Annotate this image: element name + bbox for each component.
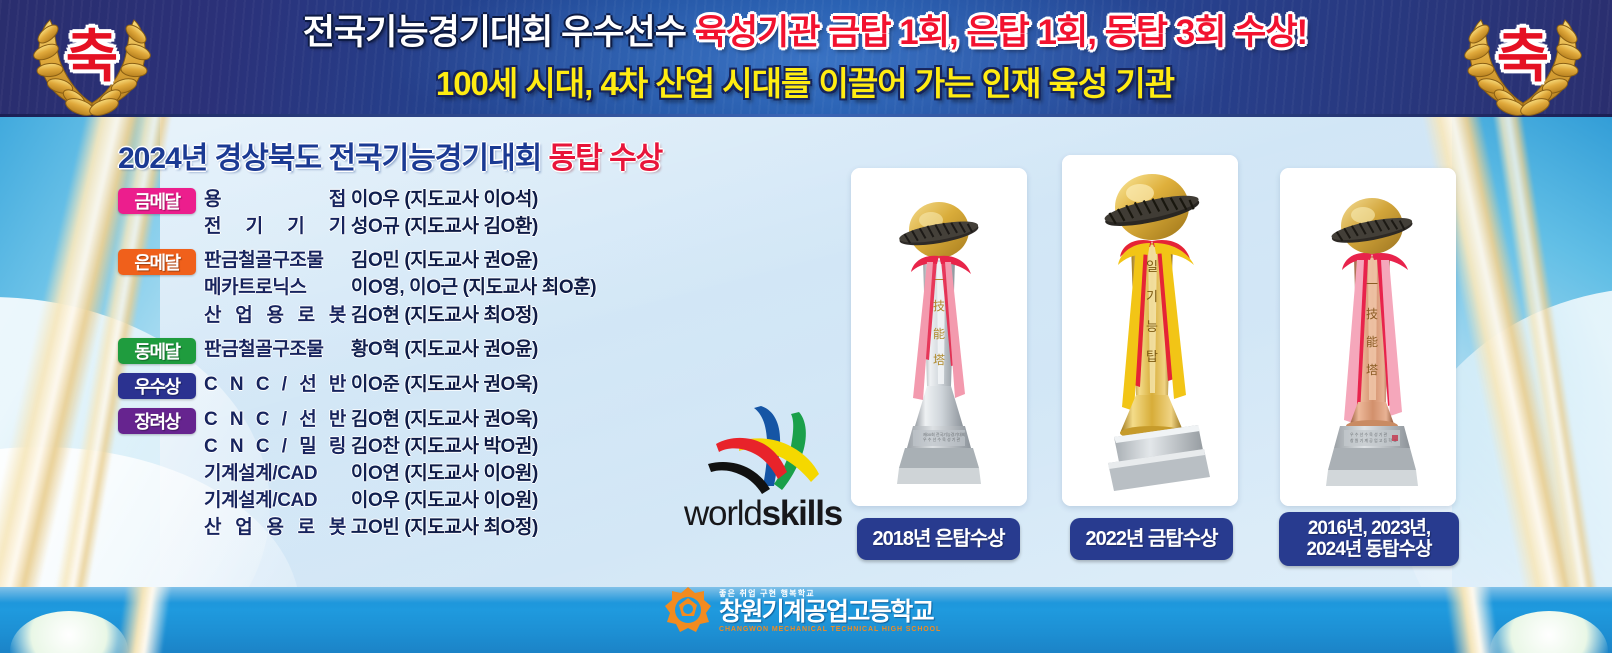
award-group: 은메달판금철골구조물 김O민 (지도교사 권O윤)메카트로닉스 이O영, 이O근… bbox=[118, 247, 738, 328]
award-teacher: (지도교사 이O석) bbox=[404, 189, 538, 210]
subtitle-navy-part: 2024년 경상북도 전국기능경기대회 bbox=[118, 142, 549, 175]
award-rows: C N C / 선 반 이O준 (지도교사 권O욱) bbox=[204, 371, 738, 398]
award-row: C N C / 밀 링 김O찬 (지도교사 박O권) bbox=[204, 433, 738, 460]
trophy-caption-gold: 2022년 금탑수상 bbox=[1070, 518, 1233, 560]
award-rows: 판금철골구조물 김O민 (지도교사 권O윤)메카트로닉스 이O영, 이O근 (지… bbox=[204, 247, 738, 328]
award-teacher: (지도교사 이O원) bbox=[404, 490, 538, 511]
banner-header: 전국기능경기대회 우수선수 육성기관 금탑 1회, 은탑 1회, 동탑 3회 수… bbox=[0, 0, 1612, 117]
award-group: 금메달용 접 이O우 (지도교사 이O석)전 기 기 기 성O규 (지도교사 김… bbox=[118, 186, 738, 240]
svg-text:塔: 塔 bbox=[1366, 363, 1378, 377]
award-field: C N C / 선 반 bbox=[204, 406, 346, 433]
celebration-wreath-right-icon: 축 bbox=[1448, 4, 1598, 116]
svg-text:일: 일 bbox=[1146, 259, 1158, 274]
award-teacher: (지도교사 권O욱) bbox=[404, 409, 538, 430]
award-field: 산 업 용 로 봇 bbox=[204, 514, 346, 541]
award-field: 판금철골구조물 bbox=[204, 336, 346, 363]
award-field: 전 기 기 기 bbox=[204, 213, 346, 240]
award-field: 메카트로닉스 bbox=[204, 274, 346, 301]
award-field: 용 접 bbox=[204, 186, 346, 213]
award-student-name: 김O현 bbox=[351, 409, 400, 430]
award-group: 우수상C N C / 선 반 이O준 (지도교사 권O욱) bbox=[118, 371, 738, 399]
svg-text:技: 技 bbox=[1366, 307, 1378, 321]
award-row: 전 기 기 기 성O규 (지도교사 김O환) bbox=[204, 213, 738, 240]
school-name: 창원기계공업고등학교 bbox=[719, 600, 941, 625]
school-gear-icon bbox=[664, 586, 712, 634]
award-teacher: (지도교사 최O훈) bbox=[463, 277, 597, 298]
trophy-photo-silver: 一技能塔 제00회 전국기능경기대회 우 수 선 수 육 성 기 관 bbox=[851, 168, 1027, 506]
svg-text:一: 一 bbox=[1366, 277, 1378, 291]
award-student-name: 이O연 bbox=[351, 463, 400, 484]
award-student-name: 황O혁 bbox=[351, 339, 400, 360]
svg-text:能: 能 bbox=[1366, 335, 1378, 349]
header-title-line1: 전국기능경기대회 우수선수 육성기관 금탑 1회, 은탑 1회, 동탑 3회 수… bbox=[303, 13, 1307, 53]
header-title-block: 전국기능경기대회 우수선수 육성기관 금탑 1회, 은탑 1회, 동탑 3회 수… bbox=[155, 6, 1455, 112]
school-wordmark: 좋은 취업 구현 행복학교 창원기계공업고등학교 CHANGWON MECHAN… bbox=[719, 588, 941, 633]
school-logo: 좋은 취업 구현 행복학교 창원기계공업고등학교 CHANGWON MECHAN… bbox=[664, 580, 954, 640]
award-student-name: 이O우 bbox=[351, 189, 400, 210]
trophy-caption-bronze: 2016년, 2023년, 2024년 동탑수상 bbox=[1279, 512, 1459, 566]
footer-orb-left bbox=[10, 611, 128, 653]
celebration-char-right: 축 bbox=[1448, 4, 1598, 116]
worldskills-logo: worldskills bbox=[690, 398, 835, 548]
award-field: 기계설계/CAD bbox=[204, 460, 346, 487]
award-row: C N C / 선 반 이O준 (지도교사 권O욱) bbox=[204, 371, 738, 398]
worldskills-word-heavy: skills bbox=[762, 494, 842, 533]
trophy-photo-gold: 일기능탑 bbox=[1062, 155, 1238, 506]
award-teacher: (지도교사 김O환) bbox=[404, 216, 538, 237]
award-teacher: (지도교사 권O욱) bbox=[404, 374, 538, 395]
award-rows: 용 접 이O우 (지도교사 이O석)전 기 기 기 성O규 (지도교사 김O환) bbox=[204, 186, 738, 240]
celebration-wreath-left-icon: 축 bbox=[17, 4, 167, 116]
worldskills-word-light: world bbox=[684, 494, 762, 533]
award-teacher: (지도교사 권O윤) bbox=[404, 339, 538, 360]
trophy-photo-bronze: 一技能塔 우 수 선 수 육 성 기 관 창 원 기 계 공 업 고 등 학 교 bbox=[1280, 168, 1456, 506]
award-field: 산 업 용 로 봇 bbox=[204, 302, 346, 329]
award-teacher: (지도교사 박O권) bbox=[404, 436, 538, 457]
school-name-english: CHANGWON MECHANICAL TECHNICAL HIGH SCHOO… bbox=[719, 626, 941, 633]
header-title-white-part: 전국기능경기대회 우수선수 bbox=[303, 13, 695, 52]
svg-text:능: 능 bbox=[1146, 319, 1158, 334]
award-badge: 장려상 bbox=[118, 408, 196, 434]
award-row: 판금철골구조물 김O민 (지도교사 권O윤) bbox=[204, 247, 738, 274]
award-badge: 우수상 bbox=[118, 373, 196, 399]
svg-text:탑: 탑 bbox=[1146, 349, 1158, 364]
award-badge: 금메달 bbox=[118, 188, 196, 214]
award-teacher: (지도교사 권O윤) bbox=[404, 250, 538, 271]
svg-text:창 원 기 계 공 업 고 등 학 교: 창 원 기 계 공 업 고 등 학 교 bbox=[1350, 437, 1397, 443]
award-list: 금메달용 접 이O우 (지도교사 이O석)전 기 기 기 성O규 (지도교사 김… bbox=[118, 186, 738, 549]
award-student-name: 김O현 bbox=[351, 305, 400, 326]
svg-text:기: 기 bbox=[1146, 289, 1158, 304]
award-student-name: 이O우 bbox=[351, 490, 400, 511]
award-field: 판금철골구조물 bbox=[204, 247, 346, 274]
section-subtitle: 2024년 경상북도 전국기능경기대회 동탑 수상 bbox=[118, 133, 662, 177]
worldskills-mark-icon bbox=[704, 398, 824, 496]
svg-text:技: 技 bbox=[933, 299, 945, 313]
award-field: 기계설계/CAD bbox=[204, 487, 346, 514]
award-row: 산 업 용 로 봇 김O현 (지도교사 최O정) bbox=[204, 302, 738, 329]
school-slogan: 좋은 취업 구현 행복학교 bbox=[719, 588, 941, 599]
award-row: 기계설계/CAD 이O연 (지도교사 이O원) bbox=[204, 460, 738, 487]
award-row: 메카트로닉스 이O영, 이O근 (지도교사 최O훈) bbox=[204, 274, 738, 301]
header-title-line2: 100세 시대, 4차 산업 시대를 이끌어 가는 인재 육성 기관 bbox=[436, 57, 1174, 105]
svg-text:塔: 塔 bbox=[933, 353, 945, 367]
award-student-name: 김O민 bbox=[351, 250, 400, 271]
header-title-red-part: 육성기관 금탑 1회, 은탑 1회, 동탑 3회 수상! bbox=[695, 13, 1308, 52]
subtitle-red-part: 동탑 수상 bbox=[549, 142, 663, 175]
award-group: 동메달판금철골구조물 황O혁 (지도교사 권O윤) bbox=[118, 336, 738, 364]
award-teacher: (지도교사 이O원) bbox=[404, 463, 538, 484]
award-field: C N C / 밀 링 bbox=[204, 433, 346, 460]
footer-orb-right bbox=[1490, 611, 1608, 653]
award-field: C N C / 선 반 bbox=[204, 371, 346, 398]
award-rows: 판금철골구조물 황O혁 (지도교사 권O윤) bbox=[204, 336, 738, 363]
award-row: 판금철골구조물 황O혁 (지도교사 권O윤) bbox=[204, 336, 738, 363]
award-student-name: 성O규 bbox=[351, 216, 400, 237]
svg-text:우 수 선 수 육 성 기 관: 우 수 선 수 육 성 기 관 bbox=[1350, 431, 1388, 437]
award-teacher: (지도교사 최O정) bbox=[404, 305, 538, 326]
award-student-name: 고O빈 bbox=[351, 517, 400, 538]
award-badge: 동메달 bbox=[118, 338, 196, 364]
award-row: C N C / 선 반 김O현 (지도교사 권O욱) bbox=[204, 406, 738, 433]
svg-text:우 수 선 수 육 성 기 관: 우 수 선 수 육 성 기 관 bbox=[923, 436, 961, 442]
award-student-name: 이O준 bbox=[351, 374, 400, 395]
award-badge: 은메달 bbox=[118, 249, 196, 275]
celebration-char-left: 축 bbox=[17, 4, 167, 116]
award-student-name: 이O영, 이O근 bbox=[351, 277, 458, 298]
svg-text:能: 能 bbox=[933, 327, 945, 341]
award-student-name: 김O찬 bbox=[351, 436, 400, 457]
award-row: 용 접 이O우 (지도교사 이O석) bbox=[204, 186, 738, 213]
award-teacher: (지도교사 최O정) bbox=[404, 517, 538, 538]
promotional-banner: 전국기능경기대회 우수선수 육성기관 금탑 1회, 은탑 1회, 동탑 3회 수… bbox=[0, 0, 1612, 653]
trophy-caption-silver: 2018년 은탑수상 bbox=[857, 518, 1020, 560]
